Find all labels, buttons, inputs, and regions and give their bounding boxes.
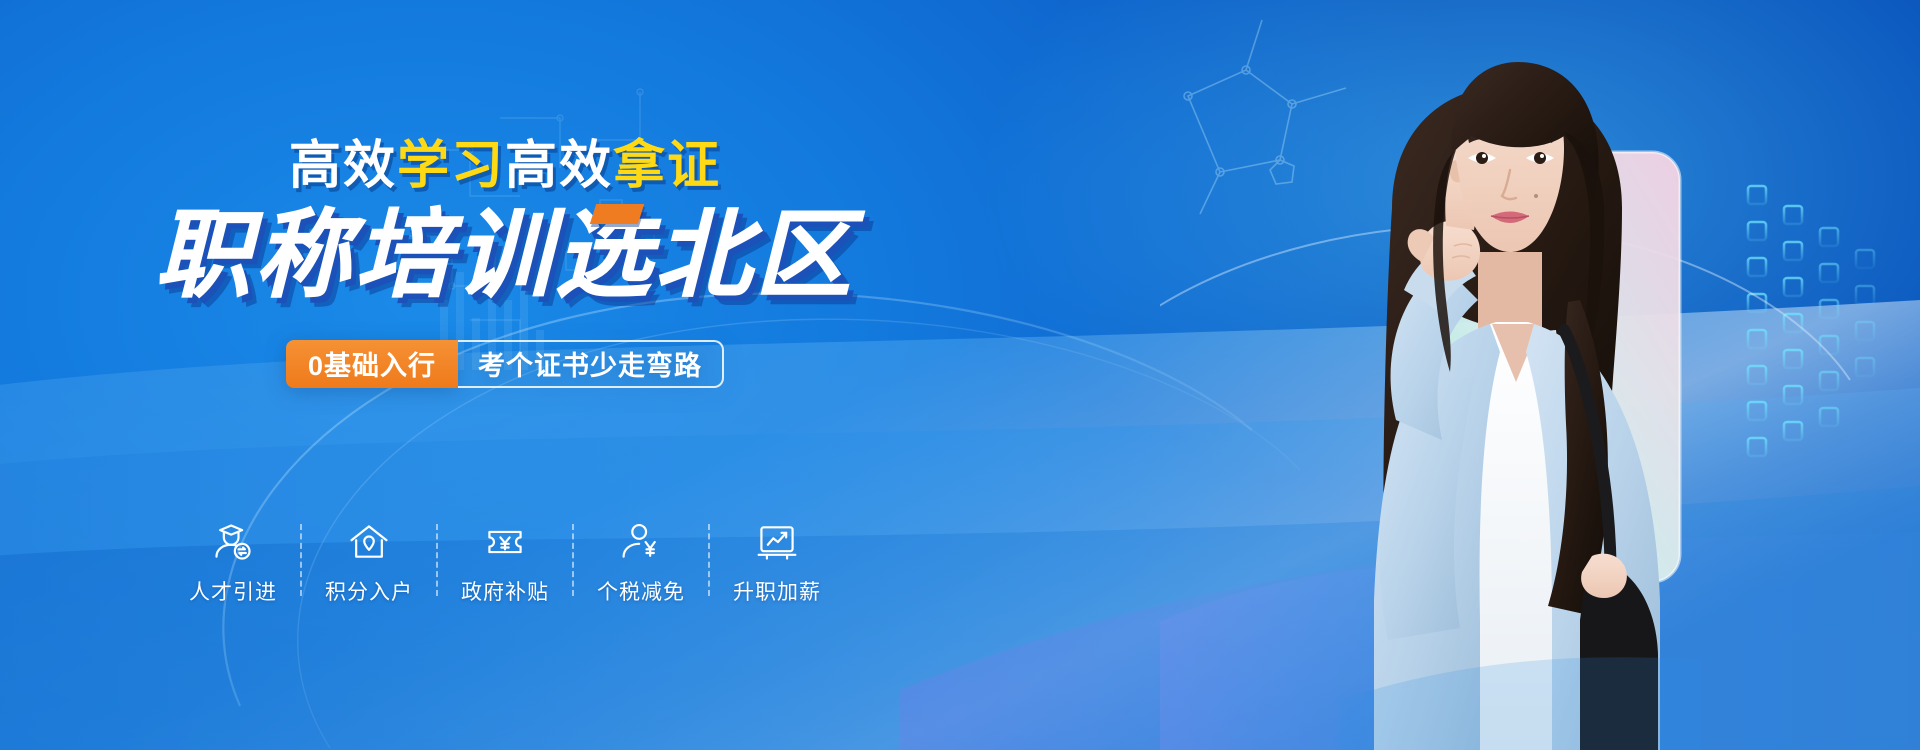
kicker-line: 高效学习高效拿证 [289, 140, 721, 192]
hero-illustration [1160, 0, 1920, 750]
tech-grid-decoration [1748, 186, 1874, 456]
person-yuan-icon [619, 520, 663, 564]
feature-label: 升职加薪 [733, 576, 821, 606]
feature-label: 个税减免 [597, 576, 685, 606]
feature-item-promotion[interactable]: 升职加薪 [710, 520, 844, 606]
feature-label: 政府补贴 [461, 576, 549, 606]
page-title: 职称培训选北区 [155, 206, 855, 306]
feature-item-tax[interactable]: 个税减免 [574, 520, 708, 606]
kicker-seg-4: 拿证 [613, 137, 721, 195]
graduate-exchange-icon [211, 520, 255, 564]
badge-row: 0基础入行 考个证书少走弯路 [286, 340, 724, 388]
feature-label: 人才引进 [189, 576, 277, 606]
feature-row: 人才引进 积分入户 政府补贴 个税 [0, 520, 1010, 606]
badge-secondary[interactable]: 考个证书少走弯路 [458, 340, 724, 388]
kicker-seg-2: 学习 [397, 137, 505, 195]
feature-item-subsidy[interactable]: 政府补贴 [438, 520, 572, 606]
feature-item-residence[interactable]: 积分入户 [302, 520, 436, 606]
house-pin-icon [347, 520, 391, 564]
copy-block: 高效学习高效拿证 职称培训选北区 0基础入行 考个证书少走弯路 [0, 140, 1010, 388]
hero-figure [1160, 0, 1920, 750]
kicker-seg-1: 高效 [289, 137, 397, 195]
badge-primary[interactable]: 0基础入行 [286, 340, 458, 388]
feature-label: 积分入户 [325, 576, 413, 606]
chart-board-icon [755, 520, 799, 564]
feature-item-talent[interactable]: 人才引进 [166, 520, 300, 606]
headline-text: 职称培训选北区 [155, 202, 855, 309]
promo-banner: 高效学习高效拿证 职称培训选北区 0基础入行 考个证书少走弯路 人才引进 [0, 0, 1920, 750]
molecule-decoration [1184, 20, 1346, 214]
kicker-seg-3: 高效 [505, 137, 613, 195]
coupon-yuan-icon [483, 520, 527, 564]
orange-accent-bar [590, 204, 644, 224]
